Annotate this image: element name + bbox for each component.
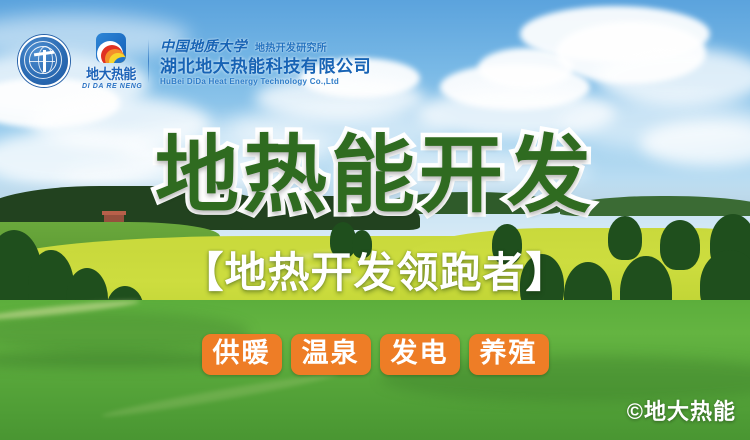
company-name-cn: 湖北地大热能科技有限公司 — [160, 56, 371, 77]
institute-name: 地热开发研究所 — [255, 39, 327, 54]
service-tag[interactable]: 养殖 — [469, 334, 549, 375]
university-name: 中国地质大学 — [160, 36, 247, 56]
page-title: 地热能开发 — [0, 133, 750, 217]
seal-hammer-handle — [43, 50, 46, 72]
header-logo-bar: 地大热能 DI DA RE NENG 中国地质大学 地热开发研究所 湖北地大热能… — [18, 30, 371, 92]
promo-banner: 地大热能 DI DA RE NENG 中国地质大学 地热开发研究所 湖北地大热能… — [0, 0, 750, 440]
brand-mark: 地大热能 DI DA RE NENG — [82, 33, 140, 90]
service-tag[interactable]: 发电 — [380, 334, 460, 375]
header-divider — [148, 39, 149, 83]
dida-rainbow-logo-icon — [96, 33, 126, 63]
service-tag[interactable]: 温泉 — [291, 334, 371, 375]
company-name-en: HuBei DiDa Heat Energy Technology Co.,Lt… — [160, 77, 371, 86]
organization-line-1: 中国地质大学 地热开发研究所 — [160, 36, 371, 56]
brand-name-cn: 地大热能 — [84, 64, 137, 84]
page-subtitle: 【地热开发领跑者】 — [0, 252, 750, 294]
copyright-watermark: ©地大热能 — [627, 394, 736, 426]
university-seal-icon — [18, 35, 70, 87]
brand-name-pinyin: DI DA RE NENG — [82, 83, 140, 90]
service-tag[interactable]: 供暖 — [202, 334, 282, 375]
service-tag-list: 供暖 温泉 发电 养殖 — [0, 334, 750, 375]
organization-block: 中国地质大学 地热开发研究所 湖北地大热能科技有限公司 HuBei DiDa H… — [160, 36, 371, 86]
